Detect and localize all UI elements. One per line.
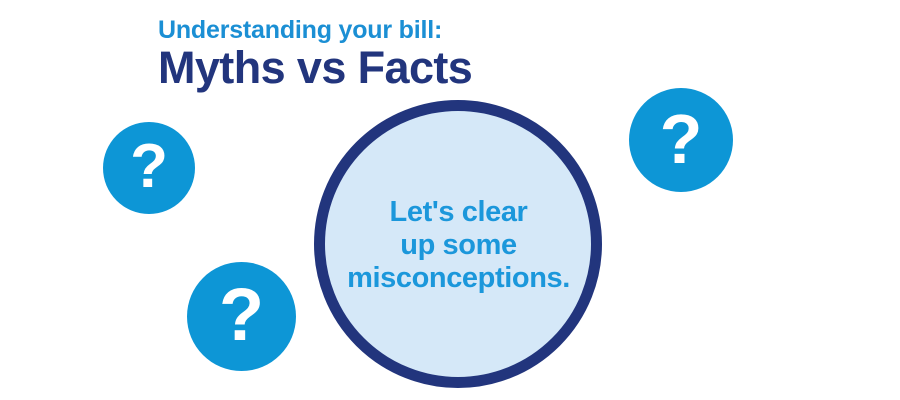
heading-block: Understanding your bill: Myths vs Facts: [158, 17, 678, 91]
main-circle-text: Let's clear up some misconceptions.: [326, 196, 591, 295]
page-title: Myths vs Facts: [158, 45, 678, 91]
question-mark-icon: ?: [660, 104, 703, 174]
question-mark-bubble-left: ?: [103, 122, 195, 214]
question-mark-bubble-bottom: ?: [187, 262, 296, 371]
question-mark-bubble-right: ?: [629, 88, 733, 192]
question-mark-icon: ?: [130, 136, 168, 198]
question-mark-icon: ?: [219, 278, 264, 352]
infographic-banner: Understanding your bill: Myths vs Facts …: [0, 0, 900, 400]
eyebrow-text: Understanding your bill:: [158, 17, 678, 44]
main-circle-callout: Let's clear up some misconceptions.: [314, 100, 602, 388]
